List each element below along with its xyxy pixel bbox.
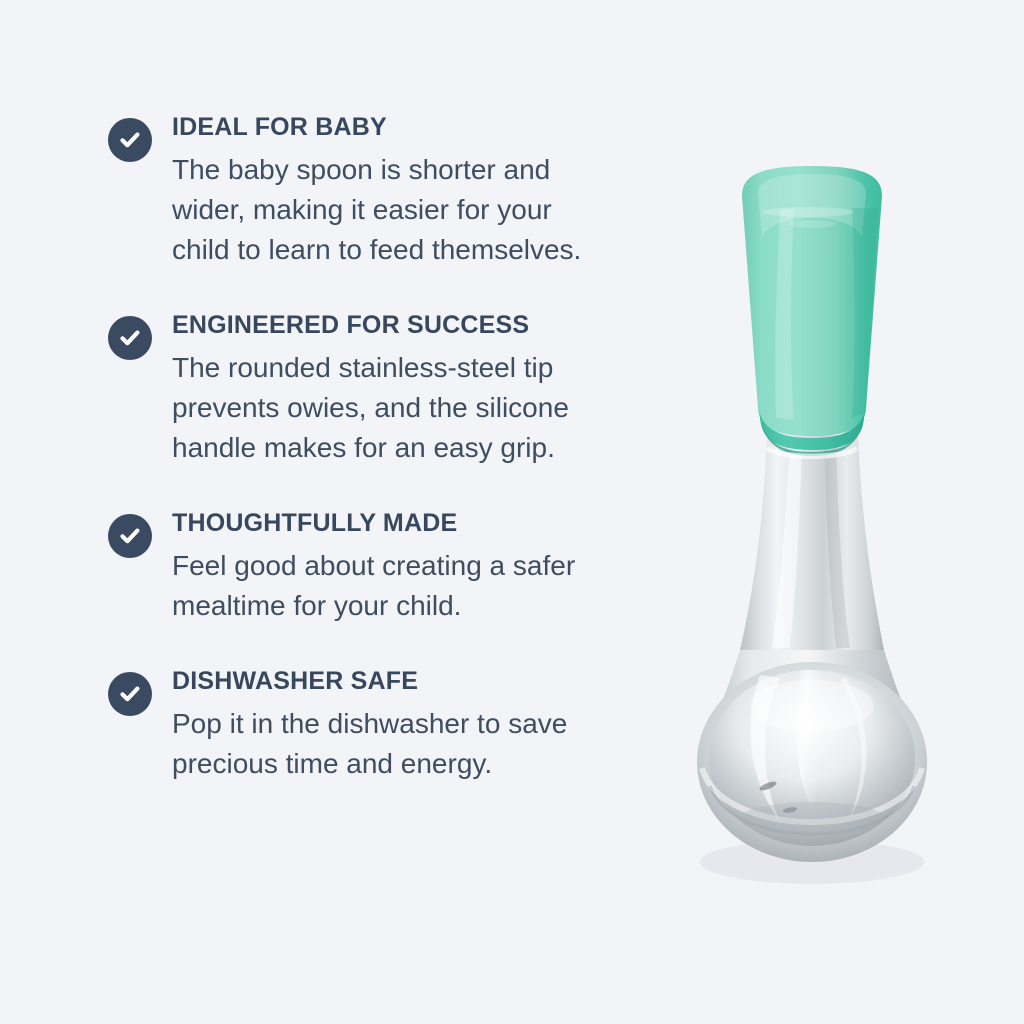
check-circle-icon [108, 118, 152, 162]
feature-item-thoughtfully-made: THOUGHTFULLY MADE Feel good about creati… [108, 508, 618, 626]
check-circle-icon [108, 514, 152, 558]
feature-title: IDEAL FOR BABY [172, 112, 618, 142]
feature-item-engineered-for-success: ENGINEERED FOR SUCCESS The rounded stain… [108, 310, 618, 468]
feature-description: Feel good about creating a safer mealtim… [172, 546, 612, 626]
feature-title: ENGINEERED FOR SUCCESS [172, 310, 618, 340]
feature-list: IDEAL FOR BABY The baby spoon is shorter… [108, 112, 618, 784]
feature-description: The rounded stainless-steel tip prevents… [172, 348, 612, 468]
feature-description: Pop it in the dishwasher to save preciou… [172, 704, 612, 784]
check-circle-icon [108, 316, 152, 360]
feature-item-ideal-for-baby: IDEAL FOR BABY The baby spoon is shorter… [108, 112, 618, 270]
feature-item-dishwasher-safe: DISHWASHER SAFE Pop it in the dishwasher… [108, 666, 618, 784]
check-circle-icon [108, 672, 152, 716]
feature-description: The baby spoon is shorter and wider, mak… [172, 150, 612, 270]
infographic-page: IDEAL FOR BABY The baby spoon is shorter… [0, 0, 1024, 1024]
feature-title: THOUGHTFULLY MADE [172, 508, 618, 538]
feature-title: DISHWASHER SAFE [172, 666, 618, 696]
baby-spoon-photo [640, 150, 980, 910]
